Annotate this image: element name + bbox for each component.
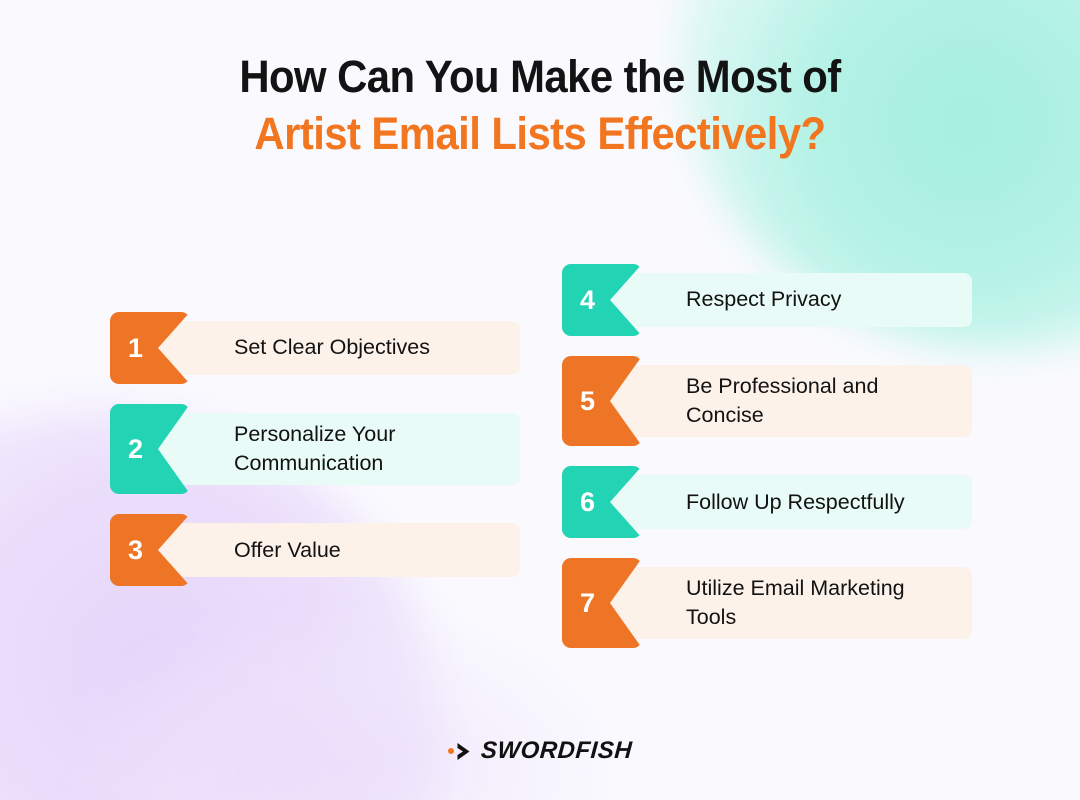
logo-mark (448, 742, 472, 761)
steps-column-right: 4Respect Privacy5Be Professional and Con… (562, 264, 972, 648)
step-item[interactable]: 5Be Professional and Concise (562, 356, 972, 446)
step-item[interactable]: 7Utilize Email Marketing Tools (562, 558, 972, 648)
brand-logo[interactable]: SWORDFISH (0, 737, 1080, 765)
step-label: Utilize Email Marketing Tools (642, 558, 972, 648)
step-number: 7 (580, 590, 595, 617)
step-item[interactable]: 2Personalize Your Communication (110, 404, 520, 494)
step-item[interactable]: 6Follow Up Respectfully (562, 466, 972, 538)
page-title: How Can You Make the Most of Artist Emai… (0, 48, 1080, 162)
page-title-line-1: How Can You Make the Most of (38, 48, 1042, 105)
step-number: 6 (580, 489, 595, 516)
step-label: Set Clear Objectives (190, 312, 520, 384)
step-label: Follow Up Respectfully (642, 466, 972, 538)
step-number: 5 (580, 388, 595, 415)
page-title-line-2: Artist Email Lists Effectively? (38, 105, 1042, 162)
step-number: 1 (128, 335, 143, 362)
step-item[interactable]: 3Offer Value (110, 514, 520, 586)
step-item[interactable]: 4Respect Privacy (562, 264, 972, 336)
step-number: 3 (128, 537, 143, 564)
step-label: Offer Value (190, 514, 520, 586)
steps-column-left: 1Set Clear Objectives2Personalize Your C… (110, 312, 520, 586)
step-item[interactable]: 1Set Clear Objectives (110, 312, 520, 384)
step-label: Respect Privacy (642, 264, 972, 336)
step-label: Personalize Your Communication (190, 404, 520, 494)
dot-icon (448, 748, 454, 754)
logo-wordmark: SWORDFISH (480, 737, 633, 765)
chevron-right-icon (456, 742, 472, 761)
step-number: 2 (128, 436, 143, 463)
infographic-canvas: How Can You Make the Most of Artist Emai… (0, 0, 1080, 800)
step-number: 4 (580, 287, 595, 314)
step-label: Be Professional and Concise (642, 356, 972, 446)
